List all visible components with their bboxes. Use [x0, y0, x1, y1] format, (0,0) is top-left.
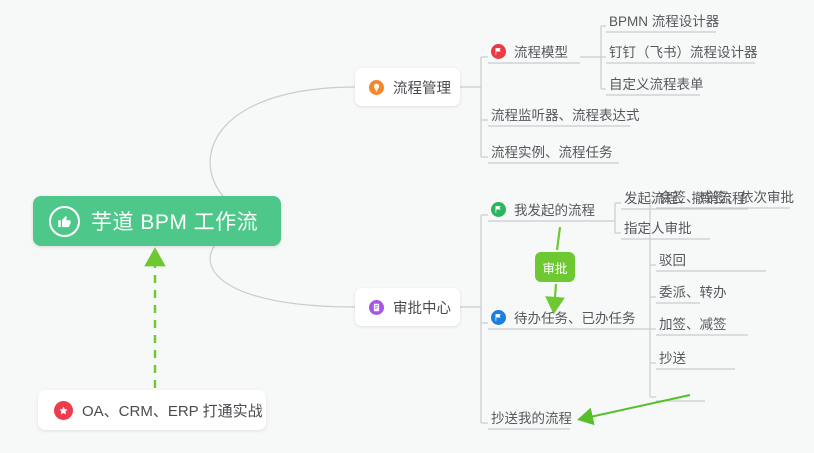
node-label: 抄送我的流程	[491, 412, 572, 426]
node-label: 流程监听器、流程表达式	[491, 109, 640, 123]
floating-node-integration[interactable]: OA、CRM、ERP 打通实战	[38, 390, 266, 430]
node-label: 流程实例、流程任务	[491, 146, 613, 160]
node-custom-form[interactable]: 自定义流程表单	[609, 73, 704, 95]
branch-label: 审批中心	[393, 297, 451, 318]
branch-node-process-mgmt[interactable]: 流程管理	[355, 68, 460, 106]
node-label: 自定义流程表单	[609, 78, 704, 92]
node-process-model[interactable]: 流程模型	[491, 40, 568, 63]
node-label: 委派、转办	[659, 286, 727, 300]
flag-icon	[491, 44, 506, 59]
node-label: 指定人审批	[624, 222, 692, 236]
node-label: 抄送	[659, 352, 686, 366]
node-label: 钉钉（飞书）流程设计器	[609, 46, 758, 60]
node-label: 我发起的流程	[514, 204, 595, 218]
node-assignee-approve[interactable]: 指定人审批	[624, 217, 692, 239]
node-label: 会签、或签、依次审批	[659, 191, 794, 205]
branch-node-approve-center[interactable]: 审批中心	[355, 288, 460, 326]
node-label: BPMN 流程设计器	[609, 15, 719, 29]
node-my-started[interactable]: 我发起的流程	[491, 198, 595, 221]
lightbulb-icon	[369, 80, 384, 95]
node-carbon-copy[interactable]: 抄送	[659, 347, 686, 369]
node-label: 待办任务、已办任务	[514, 312, 636, 326]
approval-badge: 审批	[535, 252, 575, 282]
node-add-remove-sign[interactable]: 加签、减签	[659, 313, 727, 335]
document-icon	[369, 300, 384, 315]
cc-flow-arrow	[581, 395, 690, 419]
flag-icon	[491, 310, 506, 325]
node-cc-to-me[interactable]: 抄送我的流程	[491, 407, 572, 429]
star-icon	[54, 401, 73, 420]
flag-icon	[491, 202, 506, 217]
root-label: 芋道 BPM 工作流	[91, 206, 258, 236]
thumbs-up-icon	[49, 206, 80, 237]
mindmap-canvas: 芋道 BPM 工作流 流程管理 审批中心	[0, 0, 814, 453]
node-multi-sign[interactable]: 会签、或签、依次审批	[659, 186, 794, 208]
root-node[interactable]: 芋道 BPM 工作流	[33, 196, 281, 246]
node-label: 流程模型	[514, 46, 568, 60]
node-bpmn-designer[interactable]: BPMN 流程设计器	[609, 10, 719, 32]
node-reject[interactable]: 驳回	[659, 249, 686, 271]
branch-label: 流程管理	[393, 77, 451, 98]
node-listener-expression[interactable]: 流程监听器、流程表达式	[491, 104, 640, 126]
approval-badge-label: 审批	[542, 258, 567, 277]
node-label: 加签、减签	[659, 318, 727, 332]
floating-node-label: OA、CRM、ERP 打通实战	[82, 400, 263, 421]
node-todo-done[interactable]: 待办任务、已办任务	[491, 306, 636, 329]
node-delegate-transfer[interactable]: 委派、转办	[659, 281, 727, 303]
node-label: 驳回	[659, 254, 686, 268]
node-instance-task[interactable]: 流程实例、流程任务	[491, 141, 613, 163]
node-dingtalk-designer[interactable]: 钉钉（飞书）流程设计器	[609, 41, 758, 63]
